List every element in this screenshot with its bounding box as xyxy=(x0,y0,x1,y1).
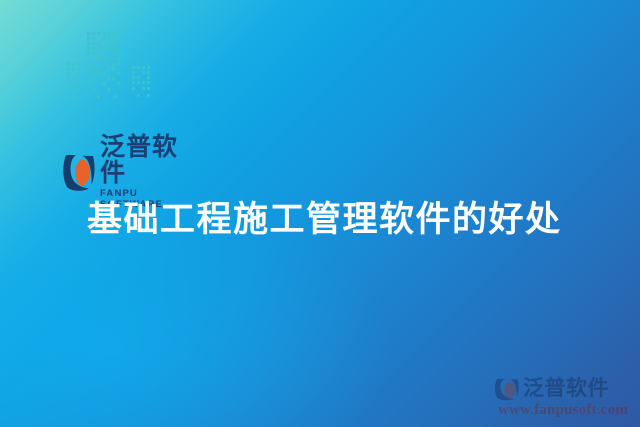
brand-block: 泛普软件 FANPU SOFTWARE xyxy=(62,26,202,108)
watermark-url: www.fanpusoft.com xyxy=(494,402,632,419)
city-skyline-pixel-icon xyxy=(66,26,186,108)
slide-canvas: 泛普软件 FANPU SOFTWARE 基础工程施工管理软件的好处 泛普软件 w… xyxy=(0,0,640,427)
watermark-name-cn: 泛普软件 xyxy=(523,378,609,399)
page-title: 基础工程施工管理软件的好处 xyxy=(87,199,562,242)
brand-name-cn: 泛普软件 xyxy=(100,134,202,186)
fanpu-swoosh-logo-icon xyxy=(62,152,96,192)
watermark-logo: 泛普软件 xyxy=(494,377,632,401)
watermark: 泛普软件 www.fanpusoft.com xyxy=(494,377,632,419)
fanpu-swoosh-logo-icon xyxy=(494,377,520,401)
